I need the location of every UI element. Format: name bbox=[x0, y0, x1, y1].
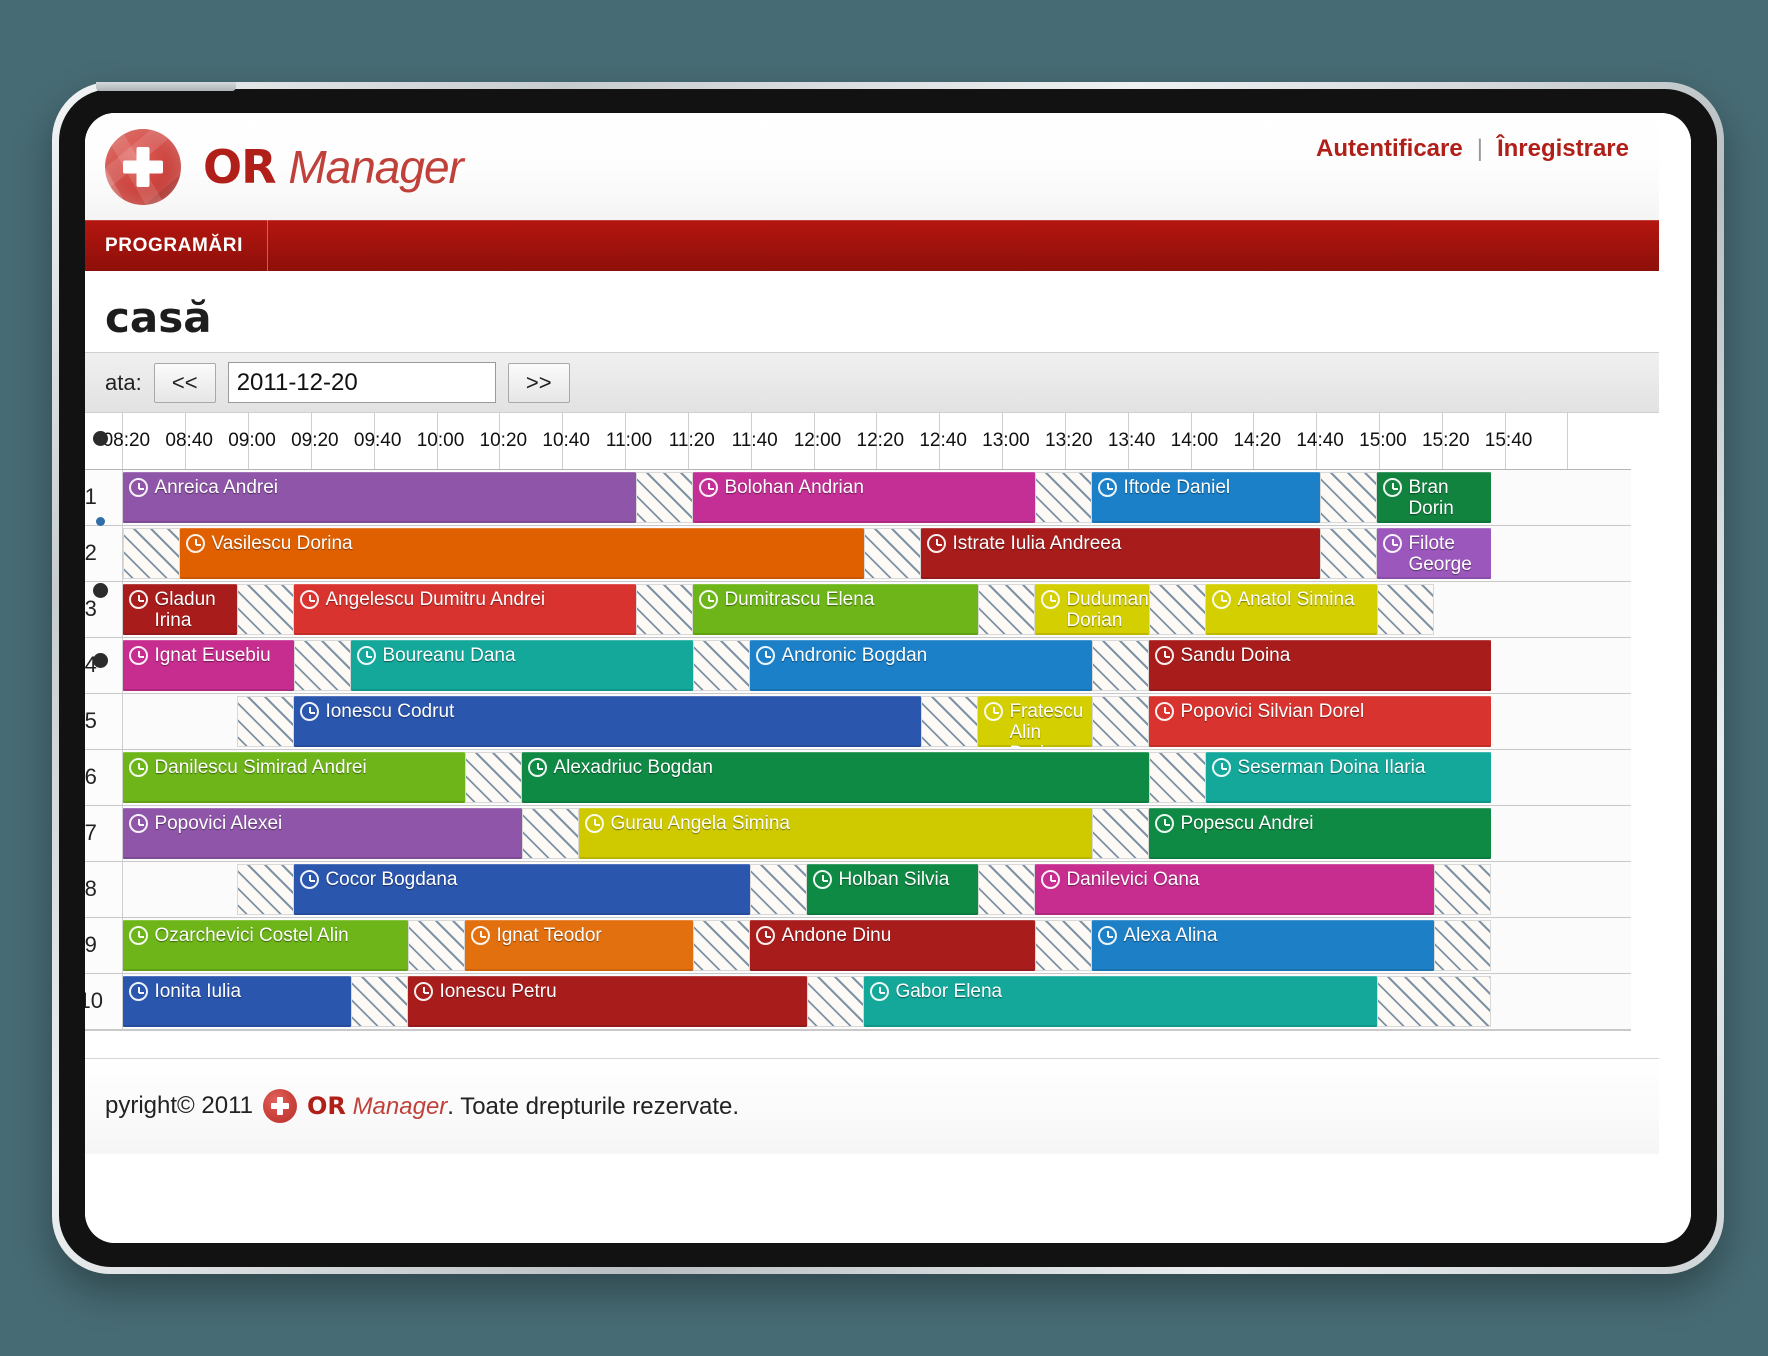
room-number: 6 bbox=[85, 749, 123, 805]
appointment-block[interactable]: Vasilescu Dorina bbox=[180, 528, 864, 579]
time-tick-end bbox=[1568, 413, 1631, 469]
free-slot[interactable] bbox=[465, 752, 522, 803]
free-slot[interactable] bbox=[1377, 584, 1434, 635]
clock-icon bbox=[528, 758, 547, 777]
schedule-body: 1Anreica AndreiBolohan AndrianIftode Dan… bbox=[85, 469, 1631, 1029]
sensor-dot-4 bbox=[93, 653, 108, 668]
free-slot[interactable] bbox=[636, 584, 693, 635]
time-tick-1540: 15:40 bbox=[1505, 413, 1568, 469]
patient-name: Sandu Doina bbox=[1180, 645, 1290, 666]
free-slot[interactable] bbox=[522, 808, 579, 859]
clock-icon bbox=[1041, 870, 1060, 889]
patient-name: Danilevici Oana bbox=[1066, 869, 1199, 890]
patient-name: Popovici Silvian Dorel bbox=[1180, 701, 1364, 722]
nav-tab-programari[interactable]: PROGRAMĂRI bbox=[85, 220, 268, 271]
patient-name: Iftode Daniel bbox=[1123, 477, 1230, 498]
schedule-table: la 08:2008:4009:0009:2009:4010:0010:2010… bbox=[85, 413, 1631, 1030]
sensor-dot-1 bbox=[93, 431, 108, 446]
appointment-block[interactable]: Andone Dinu bbox=[750, 920, 1035, 971]
patient-name: Danilescu Simirad Andrei bbox=[154, 757, 366, 778]
appointment-block[interactable]: Gurau Angela Simina bbox=[579, 808, 1092, 859]
auth-links: Autentificare | Înregistrare bbox=[1316, 135, 1629, 163]
clock-icon bbox=[984, 702, 1003, 721]
appointment-block[interactable]: Danilescu Simirad Andrei bbox=[123, 752, 465, 803]
clock-icon bbox=[1212, 590, 1231, 609]
footer-copyright-suffix: . Toate drepturile rezervate. bbox=[447, 1093, 739, 1120]
tablet-frame: OR Manager Autentificare | Înregistrare … bbox=[52, 82, 1724, 1274]
appointment-block[interactable]: Anreica Andrei bbox=[123, 472, 636, 523]
clock-icon bbox=[129, 982, 148, 1001]
date-input[interactable] bbox=[228, 362, 496, 403]
schedule-row: 9Ozarchevici Costel AlinIgnat TeodorAndo… bbox=[85, 917, 1631, 973]
navbar-empty-area bbox=[268, 220, 1659, 271]
free-slot[interactable] bbox=[864, 528, 921, 579]
free-slot[interactable] bbox=[921, 696, 978, 747]
free-slot[interactable] bbox=[978, 864, 1035, 915]
appointment-block[interactable]: Bolohan Andrian bbox=[693, 472, 1035, 523]
patient-name: Seserman Doina Ilaria bbox=[1237, 757, 1425, 778]
clock-icon bbox=[1098, 478, 1117, 497]
free-slot[interactable] bbox=[1320, 472, 1377, 523]
free-slot[interactable] bbox=[351, 976, 408, 1027]
appointment-block[interactable]: Ionita Iulia bbox=[123, 976, 351, 1027]
appointment-block[interactable]: Ozarchevici Costel Alin bbox=[123, 920, 408, 971]
clock-icon bbox=[699, 478, 718, 497]
patient-name: Vasilescu Dorina bbox=[211, 533, 352, 554]
appointment-block[interactable]: Popovici Silvian Dorel bbox=[1149, 696, 1491, 747]
main-navbar: PROGRAMĂRI bbox=[85, 220, 1659, 271]
schedule-row: 1Anreica AndreiBolohan AndrianIftode Dan… bbox=[85, 469, 1631, 525]
patient-name: Boureanu Dana bbox=[382, 645, 515, 666]
clock-icon bbox=[1155, 702, 1174, 721]
room-number: 5 bbox=[85, 693, 123, 749]
patient-name: Popovici Alexei bbox=[154, 813, 282, 834]
room-lane: Ignat EusebiuBoureanu DanaAndronic Bogda… bbox=[123, 637, 1631, 693]
free-slot[interactable] bbox=[807, 976, 864, 1027]
clock-icon bbox=[300, 702, 319, 721]
room-number: 1 bbox=[85, 469, 123, 525]
room-number: 2 bbox=[85, 525, 123, 581]
patient-name: Fratescu Alin Dorin bbox=[1009, 701, 1088, 747]
room-lane: Ionescu CodrutFratescu Alin DorinPopovic… bbox=[123, 693, 1631, 749]
clock-icon bbox=[699, 590, 718, 609]
appointment-block[interactable]: Bran Dorin bbox=[1377, 472, 1491, 523]
schedule-row: 6Danilescu Simirad AndreiAlexadriuc Bogd… bbox=[85, 749, 1631, 805]
appointment-block[interactable]: Duduman Dorian bbox=[1035, 584, 1149, 635]
login-link[interactable]: Autentificare bbox=[1316, 135, 1463, 163]
appointment-block[interactable]: Alexa Alina bbox=[1092, 920, 1434, 971]
brand-or: OR bbox=[203, 140, 276, 194]
patient-name: Ionescu Codrut bbox=[325, 701, 454, 722]
appointment-block[interactable]: Angelescu Dumitru Andrei bbox=[294, 584, 636, 635]
patient-name: Holban Silvia bbox=[838, 869, 949, 890]
patient-name: Ignat Eusebiu bbox=[154, 645, 270, 666]
free-slot[interactable] bbox=[237, 864, 294, 915]
appointment-block[interactable]: Andronic Bogdan bbox=[750, 640, 1092, 691]
free-slot[interactable] bbox=[636, 472, 693, 523]
tablet-bezel: OR Manager Autentificare | Înregistrare … bbox=[59, 89, 1717, 1267]
patient-name: Angelescu Dumitru Andrei bbox=[325, 589, 545, 610]
schedule-row: 7Popovici AlexeiGurau Angela SiminaPopes… bbox=[85, 805, 1631, 861]
free-slot[interactable] bbox=[294, 640, 351, 691]
footer-brand: OR Manager. Toate drepturile rezervate. bbox=[307, 1092, 739, 1121]
register-link[interactable]: Înregistrare bbox=[1497, 135, 1629, 163]
free-slot[interactable] bbox=[750, 864, 807, 915]
footer-brand-manager: Manager bbox=[353, 1093, 448, 1120]
page-title: casă bbox=[85, 271, 1659, 352]
footer-copyright-prefix: pyright© 2011 bbox=[105, 1092, 253, 1120]
room-number: 8 bbox=[85, 861, 123, 917]
clock-icon bbox=[1155, 646, 1174, 665]
free-slot[interactable] bbox=[1035, 920, 1092, 971]
power-button[interactable] bbox=[96, 82, 236, 91]
appointment-block[interactable]: Istrate Iulia Andreea bbox=[921, 528, 1320, 579]
brand-text: OR Manager bbox=[203, 144, 463, 190]
free-slot[interactable] bbox=[237, 696, 294, 747]
room-number: 10 bbox=[85, 973, 123, 1029]
patient-name: Andone Dinu bbox=[781, 925, 891, 946]
site-footer: pyright© 2011 OR Manager. Toate drepturi… bbox=[85, 1058, 1659, 1154]
clock-icon bbox=[300, 870, 319, 889]
clock-icon bbox=[471, 926, 490, 945]
free-slot[interactable] bbox=[1092, 640, 1149, 691]
free-slot[interactable] bbox=[1149, 584, 1206, 635]
clock-icon bbox=[1383, 478, 1402, 497]
appointment-block[interactable]: Gladun Irina bbox=[123, 584, 237, 635]
appointment-block[interactable]: Gabor Elena bbox=[864, 976, 1377, 1027]
room-number: 7 bbox=[85, 805, 123, 861]
room-lane: Ionita IuliaIonescu PetruGabor Elena bbox=[123, 973, 1631, 1029]
schedule-header-row: la 08:2008:4009:0009:2009:4010:0010:2010… bbox=[85, 413, 1631, 469]
medical-cross-globe-icon bbox=[105, 129, 181, 205]
clock-icon bbox=[129, 590, 148, 609]
schedule-row: 5Ionescu CodrutFratescu Alin DorinPopovi… bbox=[85, 693, 1631, 749]
clock-icon bbox=[300, 590, 319, 609]
free-slot[interactable] bbox=[123, 528, 180, 579]
clock-icon bbox=[186, 534, 205, 553]
appointment-block[interactable]: Ionescu Petru bbox=[408, 976, 807, 1027]
clock-icon bbox=[813, 870, 832, 889]
patient-name: Alexa Alina bbox=[1123, 925, 1217, 946]
appointment-block[interactable]: Iftode Daniel bbox=[1092, 472, 1320, 523]
patient-name: Andronic Bogdan bbox=[781, 645, 927, 666]
patient-name: Anatol Simina bbox=[1237, 589, 1354, 610]
clock-icon bbox=[129, 478, 148, 497]
free-slot[interactable] bbox=[1434, 920, 1491, 971]
appointment-block[interactable]: Holban Silvia bbox=[807, 864, 978, 915]
free-slot[interactable] bbox=[1035, 472, 1092, 523]
free-slot[interactable] bbox=[1434, 864, 1491, 915]
patient-name: Bran Dorin bbox=[1408, 477, 1487, 520]
appointment-block[interactable]: Alexadriuc Bogdan bbox=[522, 752, 1149, 803]
clock-icon bbox=[927, 534, 946, 553]
clock-icon bbox=[129, 646, 148, 665]
next-day-button[interactable]: >> bbox=[508, 363, 570, 403]
free-slot[interactable] bbox=[408, 920, 465, 971]
clock-icon bbox=[870, 982, 889, 1001]
free-slot[interactable] bbox=[1377, 976, 1491, 1027]
free-slot[interactable] bbox=[1092, 696, 1149, 747]
appointment-block[interactable]: Boureanu Dana bbox=[351, 640, 693, 691]
patient-name: Dumitrascu Elena bbox=[724, 589, 874, 610]
patient-name: Anreica Andrei bbox=[154, 477, 278, 498]
brand-manager: Manager bbox=[288, 141, 463, 193]
appointment-block[interactable]: Seserman Doina Ilaria bbox=[1206, 752, 1491, 803]
schedule-row: 8Cocor BogdanaHolban SilviaDanilevici Oa… bbox=[85, 861, 1631, 917]
appointment-block[interactable]: Danilevici Oana bbox=[1035, 864, 1434, 915]
clock-icon bbox=[1155, 814, 1174, 833]
room-lane: Vasilescu DorinaIstrate Iulia AndreeaFil… bbox=[123, 525, 1631, 581]
patient-name: Ozarchevici Costel Alin bbox=[154, 925, 348, 946]
appointment-block[interactable]: Ionescu Codrut bbox=[294, 696, 921, 747]
free-slot[interactable] bbox=[693, 920, 750, 971]
clock-icon bbox=[1098, 926, 1117, 945]
clock-icon bbox=[1212, 758, 1231, 777]
appointment-block[interactable]: Popescu Andrei bbox=[1149, 808, 1491, 859]
page-content: casă ata: << >> la bbox=[85, 271, 1659, 1154]
patient-name: Cocor Bogdana bbox=[325, 869, 457, 890]
sensor-dot-2 bbox=[96, 517, 105, 526]
patient-name: Filote George bbox=[1408, 533, 1487, 576]
patient-name: Gurau Angela Simina bbox=[610, 813, 790, 834]
appointment-block[interactable]: Sandu Doina bbox=[1149, 640, 1491, 691]
clock-icon bbox=[1383, 534, 1402, 553]
schedule-row: 4Ignat EusebiuBoureanu DanaAndronic Bogd… bbox=[85, 637, 1631, 693]
free-slot[interactable] bbox=[978, 584, 1035, 635]
free-slot[interactable] bbox=[1149, 752, 1206, 803]
clock-icon bbox=[756, 926, 775, 945]
schedule-bottom-rule bbox=[85, 1030, 1631, 1040]
appointment-block[interactable]: Anatol Simina bbox=[1206, 584, 1377, 635]
free-slot[interactable] bbox=[693, 640, 750, 691]
clock-icon bbox=[756, 646, 775, 665]
patient-name: Popescu Andrei bbox=[1180, 813, 1313, 834]
clock-icon bbox=[357, 646, 376, 665]
clock-icon bbox=[129, 926, 148, 945]
patient-name: Ionescu Petru bbox=[439, 981, 556, 1002]
patient-name: Duduman Dorian bbox=[1066, 589, 1148, 632]
clock-icon bbox=[585, 814, 604, 833]
appointment-block[interactable]: Cocor Bogdana bbox=[294, 864, 750, 915]
schedule-row: 3Gladun IrinaAngelescu Dumitru AndreiDum… bbox=[85, 581, 1631, 637]
appointment-block[interactable]: Ignat Teodor bbox=[465, 920, 693, 971]
room-lane: Anreica AndreiBolohan AndrianIftode Dani… bbox=[123, 469, 1631, 525]
schedule-row: 10Ionita IuliaIonescu PetruGabor Elena bbox=[85, 973, 1631, 1029]
appointment-block[interactable]: Fratescu Alin Dorin bbox=[978, 696, 1092, 747]
room-lane: Cocor BogdanaHolban SilviaDanilevici Oan… bbox=[123, 861, 1631, 917]
patient-name: Ionita Iulia bbox=[154, 981, 241, 1002]
medical-cross-icon bbox=[263, 1089, 297, 1123]
brand-logo[interactable]: OR Manager bbox=[105, 129, 463, 205]
web-page: OR Manager Autentificare | Înregistrare … bbox=[85, 113, 1691, 1243]
clock-icon bbox=[1041, 590, 1060, 609]
patient-name: Istrate Iulia Andreea bbox=[952, 533, 1121, 554]
prev-day-button[interactable]: << bbox=[154, 363, 216, 403]
room-lane: Ozarchevici Costel AlinIgnat TeodorAndon… bbox=[123, 917, 1631, 973]
date-toolbar: ata: << >> bbox=[85, 352, 1659, 413]
tablet-screen: OR Manager Autentificare | Înregistrare … bbox=[85, 113, 1691, 1243]
room-lane: Danilescu Simirad AndreiAlexadriuc Bogda… bbox=[123, 749, 1631, 805]
schedule-grid: la 08:2008:4009:0009:2009:4010:0010:2010… bbox=[85, 413, 1659, 1046]
auth-separator: | bbox=[1477, 135, 1483, 163]
room-lane: Popovici AlexeiGurau Angela SiminaPopesc… bbox=[123, 805, 1631, 861]
patient-name: Gladun Irina bbox=[154, 589, 233, 632]
site-header: OR Manager Autentificare | Înregistrare bbox=[85, 113, 1659, 220]
patient-name: Gabor Elena bbox=[895, 981, 1002, 1002]
patient-name: Alexadriuc Bogdan bbox=[553, 757, 713, 778]
clock-icon bbox=[129, 814, 148, 833]
free-slot[interactable] bbox=[1092, 808, 1149, 859]
appointment-block[interactable]: Ignat Eusebiu bbox=[123, 640, 294, 691]
patient-name: Bolohan Andrian bbox=[724, 477, 863, 498]
clock-icon bbox=[414, 982, 433, 1001]
appointment-block[interactable]: Filote George bbox=[1377, 528, 1491, 579]
free-slot[interactable] bbox=[237, 584, 294, 635]
room-lane: Gladun IrinaAngelescu Dumitru AndreiDumi… bbox=[123, 581, 1631, 637]
room-number: 9 bbox=[85, 917, 123, 973]
sensor-dot-3 bbox=[93, 583, 108, 598]
patient-name: Ignat Teodor bbox=[496, 925, 601, 946]
date-label: ata: bbox=[105, 370, 142, 396]
appointment-block[interactable]: Dumitrascu Elena bbox=[693, 584, 978, 635]
schedule-row: 2Vasilescu DorinaIstrate Iulia AndreeaFi… bbox=[85, 525, 1631, 581]
appointment-block[interactable]: Popovici Alexei bbox=[123, 808, 522, 859]
clock-icon bbox=[129, 758, 148, 777]
free-slot[interactable] bbox=[1320, 528, 1377, 579]
footer-brand-or: OR bbox=[307, 1092, 346, 1120]
